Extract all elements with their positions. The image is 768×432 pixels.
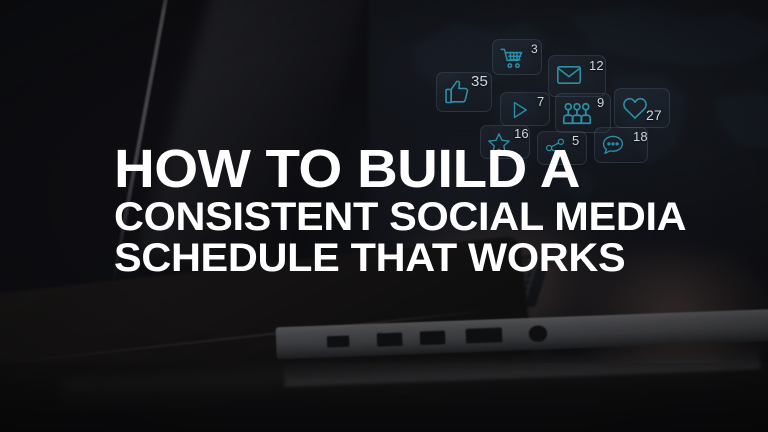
notification-count-badge: 9 (597, 95, 604, 110)
heart-icon (621, 94, 649, 122)
title-line-2: CONSISTENT SOCIAL MEDIA (114, 197, 694, 238)
notification-card-heart[interactable]: 27 (614, 88, 670, 128)
featured-image-canvas: 31235792716518 HOW TO BUILD A CONSISTENT… (0, 0, 768, 432)
notification-count-badge: 3 (531, 42, 538, 56)
shopping-cart-icon (499, 45, 525, 71)
page-title: HOW TO BUILD A CONSISTENT SOCIAL MEDIA S… (114, 141, 674, 279)
thumbs-up-icon (443, 78, 471, 106)
notification-card-like[interactable]: 35 (436, 72, 492, 112)
notification-count-badge: 35 (471, 73, 488, 90)
play-icon (507, 98, 531, 122)
notification-count-badge: 7 (537, 94, 544, 109)
notification-card-mail[interactable]: 12 (548, 55, 606, 97)
notification-card-cart[interactable]: 3 (492, 39, 542, 75)
envelope-icon (555, 61, 583, 89)
notification-count-badge: 12 (589, 58, 604, 73)
title-line-1: HOW TO BUILD A (114, 141, 699, 197)
notification-count-badge: 27 (646, 107, 662, 123)
notification-card-video[interactable]: 7 (500, 92, 550, 126)
title-line-3: SCHEDULE THAT WORKS (114, 238, 694, 279)
people-group-icon (562, 99, 592, 129)
